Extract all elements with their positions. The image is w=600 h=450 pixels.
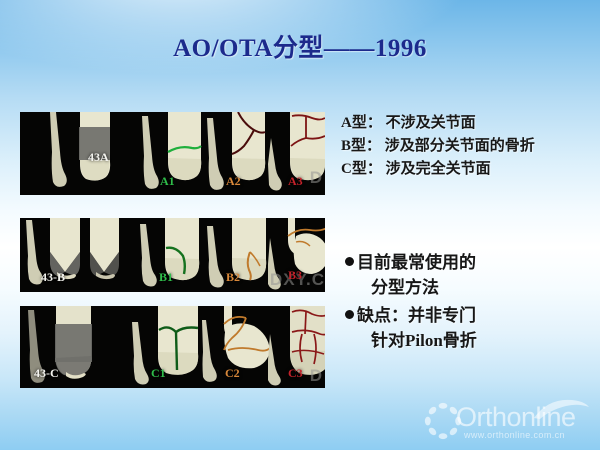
orthonline-url-text: www.orthonline.com.cn (464, 430, 565, 440)
notes-list: 目前最常使用的 分型方法 缺点：并非专门 针对Pilon骨折 (345, 250, 597, 356)
bullet-dot-icon (345, 257, 354, 266)
definition-code-b: B型： (341, 138, 381, 154)
strip-a-subtype-a1-label: A1 (160, 174, 175, 189)
strip-b-subtype-b2-label: B2 (226, 270, 240, 285)
note-1-line-1: 目前最常使用的 (357, 253, 476, 272)
bone-illustration-43b (24, 218, 128, 292)
bone-illustration-a2 (206, 112, 276, 195)
definition-code-c: C型： (341, 161, 382, 177)
strip-b-group-label: 43-B (41, 270, 65, 285)
orthonline-watermark: Orthonline www.orthonline.com.cn (420, 396, 596, 444)
definition-row-b: B型： 涉及部分关节面的骨折 (341, 135, 596, 158)
bone-illustration-c1 (132, 306, 208, 388)
strip-c-edge-watermark: D (310, 366, 323, 386)
classification-definitions: A型： 不涉及关节面 B型： 涉及部分关节面的骨折 C型： 涉及完全关节面 (341, 112, 596, 181)
bone-illustration-b2 (206, 218, 276, 292)
orthonline-brand-text: Orthonline (456, 402, 576, 432)
note-1-line-2: 分型方法 (357, 275, 476, 300)
strip-c-subtype-c1-label: C1 (151, 366, 166, 381)
list-item: 缺点：并非专门 针对Pilon骨折 (345, 303, 597, 353)
image-strip-type-a: 43A A1 A2 A3 D (20, 112, 325, 195)
note-2-line-2: 针对Pilon骨折 (357, 328, 477, 353)
bullet-dot-icon (345, 310, 354, 319)
strip-c-group-label: 43-C (34, 366, 59, 381)
bone-illustration-a1 (140, 112, 210, 195)
strip-a-edge-watermark: D (310, 168, 323, 188)
definition-code-a: A型： (341, 115, 382, 131)
definition-text-b: 涉及部分关节面的骨折 (385, 138, 535, 154)
strip-b-subtype-b1-label: B1 (159, 270, 173, 285)
image-strip-type-b: 43-B B1 B2 B3 DXY.C (20, 218, 325, 292)
note-text-1: 目前最常使用的 分型方法 (357, 250, 476, 300)
image-strip-type-c: 43-C C1 C2 (20, 306, 325, 388)
note-text-2: 缺点：并非专门 针对Pilon骨折 (357, 303, 477, 353)
list-item: 目前最常使用的 分型方法 (345, 250, 597, 300)
strip-a-group-label: 43A (88, 150, 109, 165)
strip-b-subtype-b3-label: B3 (288, 268, 302, 283)
definition-text-c: 涉及完全关节面 (386, 161, 491, 177)
strip-a-subtype-a2-label: A2 (226, 174, 241, 189)
strip-c-subtype-c2-label: C2 (225, 366, 240, 381)
definition-row-c: C型： 涉及完全关节面 (341, 158, 596, 181)
definition-text-a: 不涉及关节面 (386, 115, 476, 131)
strip-c-subtype-c3-label: C3 (288, 366, 303, 381)
note-2-line-1: 缺点：并非专门 (357, 306, 476, 325)
page-title: AO/OTA分型——1996 (0, 28, 600, 64)
strip-a-subtype-a3-label: A3 (288, 174, 303, 189)
definition-row-a: A型： 不涉及关节面 (341, 112, 596, 135)
